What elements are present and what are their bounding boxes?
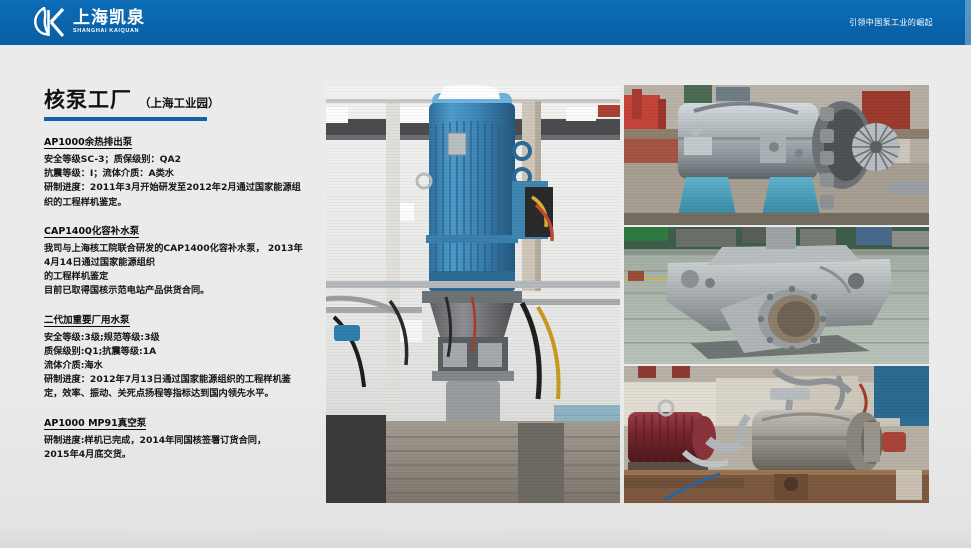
photo-main-illustration (326, 85, 620, 503)
info-block-body: 安全等级:3级;规范等级:3级 质保级别:Q1;抗震等级:1A 流体介质:海水 … (44, 331, 316, 402)
info-line: 研制进度：2012年7月13日通过国家能源组织的工程样机鉴 (44, 373, 316, 387)
header-slogan: 引领中国泵工业的崛起 (849, 0, 933, 45)
page-title-main: 核泵工厂 (44, 84, 132, 114)
info-line: 定，效率、振动、关死点扬程等指标达到国内领先水平。 (44, 387, 316, 401)
info-line: 流体介质:海水 (44, 359, 316, 373)
kaiquan-droplet-k-logo-icon (32, 7, 66, 38)
page-title: 核泵工厂 （上海工业园） (44, 84, 316, 114)
info-line: 我司与上海核工院联合研发的CAP1400化容补水泵， 2013年 (44, 242, 316, 256)
info-line: 4月14日通过国家能源组织 (44, 256, 316, 270)
title-underline-rule (44, 117, 207, 121)
info-line: 研制进度:样机已完成，2014年同国核签署订货合同， (44, 434, 316, 448)
company-logo[interactable]: 上海凯泉 SHANGHAI KAIQUAN (32, 6, 145, 39)
info-block-body: 我司与上海核工院联合研发的CAP1400化容补水泵， 2013年 4月14日通过… (44, 242, 316, 299)
page-title-sub: （上海工业园） (139, 95, 220, 111)
slide-page: 上海凯泉 SHANGHAI KAIQUAN 引领中国泵工业的崛起 核泵工厂 （上… (0, 0, 971, 548)
photo-main-vertical-pump (326, 85, 620, 503)
info-line: 的工程样机鉴定 (44, 270, 316, 284)
logo-english-name: SHANGHAI KAIQUAN (73, 29, 145, 35)
page-header: 上海凯泉 SHANGHAI KAIQUAN 引领中国泵工业的崛起 (0, 0, 971, 45)
header-right-edge (965, 0, 971, 45)
photo-side2-illustration (624, 227, 929, 364)
info-line: 2015年4月底交货。 (44, 448, 316, 462)
info-block-body: 研制进度:样机已完成，2014年同国核签署订货合同， 2015年4月底交货。 (44, 434, 316, 462)
photo-side1-illustration (624, 85, 929, 225)
info-line: 研制进度：2011年3月开始研发至2012年2月通过国家能源组 (44, 181, 316, 195)
info-block-body: 安全等级SC-3；质保级别：QA2 抗震等级：Ⅰ；流体介质：A类水 研制进度：2… (44, 153, 316, 210)
photo-side-red-motor-test-bed (624, 366, 929, 503)
photo-side3-illustration (624, 366, 929, 503)
info-line: 织的工程样机鉴定。 (44, 196, 316, 210)
info-block: AP1000 MP91真空泵 研制进度:样机已完成，2014年同国核签署订货合同… (44, 413, 316, 462)
photo-side-cast-pump-housing (624, 227, 929, 364)
info-block-heading: 二代加重要厂用水泵 (44, 312, 130, 327)
info-line: 抗震等级：Ⅰ；流体介质：A类水 (44, 167, 316, 181)
info-block: CAP1400化容补水泵 我司与上海核工院联合研发的CAP1400化容补水泵， … (44, 221, 316, 299)
info-block: 二代加重要厂用水泵 安全等级:3级;规范等级:3级 质保级别:Q1;抗震等级:1… (44, 310, 316, 402)
info-line: 安全等级SC-3；质保级别：QA2 (44, 153, 316, 167)
photo-side-steel-pump-casing (624, 85, 929, 225)
photo-side-column (624, 85, 929, 503)
info-line: 目前已取得国核示范电站产品供货合同。 (44, 284, 316, 298)
info-line: 安全等级:3级;规范等级:3级 (44, 331, 316, 345)
info-block-heading: CAP1400化容补水泵 (44, 223, 139, 238)
text-column: 核泵工厂 （上海工业园） AP1000余热排出泵 安全等级SC-3；质保级别：Q… (44, 84, 316, 462)
info-block-heading: AP1000 MP91真空泵 (44, 415, 146, 430)
info-block-heading: AP1000余热排出泵 (44, 134, 132, 149)
info-line: 质保级别:Q1;抗震等级:1A (44, 345, 316, 359)
logo-chinese-name: 上海凯泉 (73, 10, 145, 27)
logo-wordmark: 上海凯泉 SHANGHAI KAIQUAN (73, 10, 145, 35)
info-block: AP1000余热排出泵 安全等级SC-3；质保级别：QA2 抗震等级：Ⅰ；流体介… (44, 132, 316, 210)
